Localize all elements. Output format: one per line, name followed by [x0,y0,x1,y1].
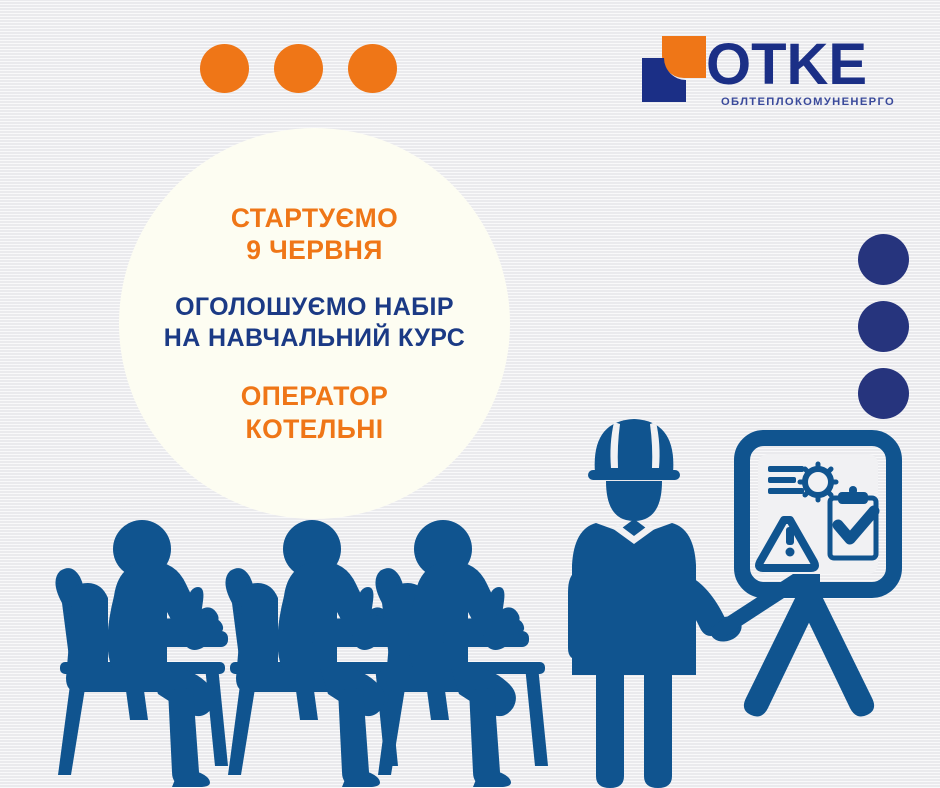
side-navy-dots [858,234,909,419]
hard-hat-icon [595,419,674,473]
orange-dot [274,44,323,93]
orange-dot [200,44,249,93]
board-surface [758,454,878,574]
logo-wordmark: OTKE [706,34,867,96]
student-seated-3 [375,520,548,787]
enrollment-line-2: НА НАВЧАЛЬНИЙ КУРС [119,323,510,354]
text-lines-icon [768,466,804,494]
instructor-figure [568,419,808,788]
course-title-block: ОПЕРАТОР КОТЕЛЬНІ [119,380,510,446]
company-logo: OTKE ОБЛТЕПЛОКОМУНЕНЕРГО [640,34,912,122]
start-date: 9 ЧЕРВНЯ [119,234,510,266]
announcement-copy: СТАРТУЄМО 9 ЧЕРВНЯ ОГОЛОШУЄМО НАБІР НА Н… [119,128,510,519]
navy-dot [858,301,909,352]
enrollment-line-1: ОГОЛОШУЄМО НАБІР [119,292,510,323]
pointer-stick [712,570,809,638]
navy-dot [858,368,909,419]
tripod-leg-right [800,588,874,716]
course-title-line-1: ОПЕРАТОР [119,380,510,413]
board-frame [742,438,894,590]
poster-canvas: OTKE ОБЛТЕПЛОКОМУНЕНЕРГО СТАРТУЄМО 9 ЧЕР… [0,0,940,788]
clipboard-checkmark-icon [830,486,876,558]
whiteboard [742,438,894,716]
start-label: СТАРТУЄМО [119,202,510,234]
navy-dot [858,234,909,285]
student-seated-1 [55,520,228,787]
start-date-block: СТАРТУЄМО 9 ЧЕРВНЯ [119,202,510,266]
gear-icon [800,464,836,500]
tripod-post [800,540,820,600]
enrollment-block: ОГОЛОШУЄМО НАБІР НА НАВЧАЛЬНИЙ КУРС [119,292,510,354]
student-seated-2 [225,520,398,787]
logo-tagline: ОБЛТЕПЛОКОМУНЕНЕРГО [704,96,912,108]
warning-triangle-icon [759,520,815,568]
orange-dot [348,44,397,93]
otke-logo-mark-icon [640,34,708,104]
tripod-leg-left [744,588,818,716]
course-title-line-2: КОТЕЛЬНІ [119,413,510,446]
top-orange-dots [200,44,397,93]
